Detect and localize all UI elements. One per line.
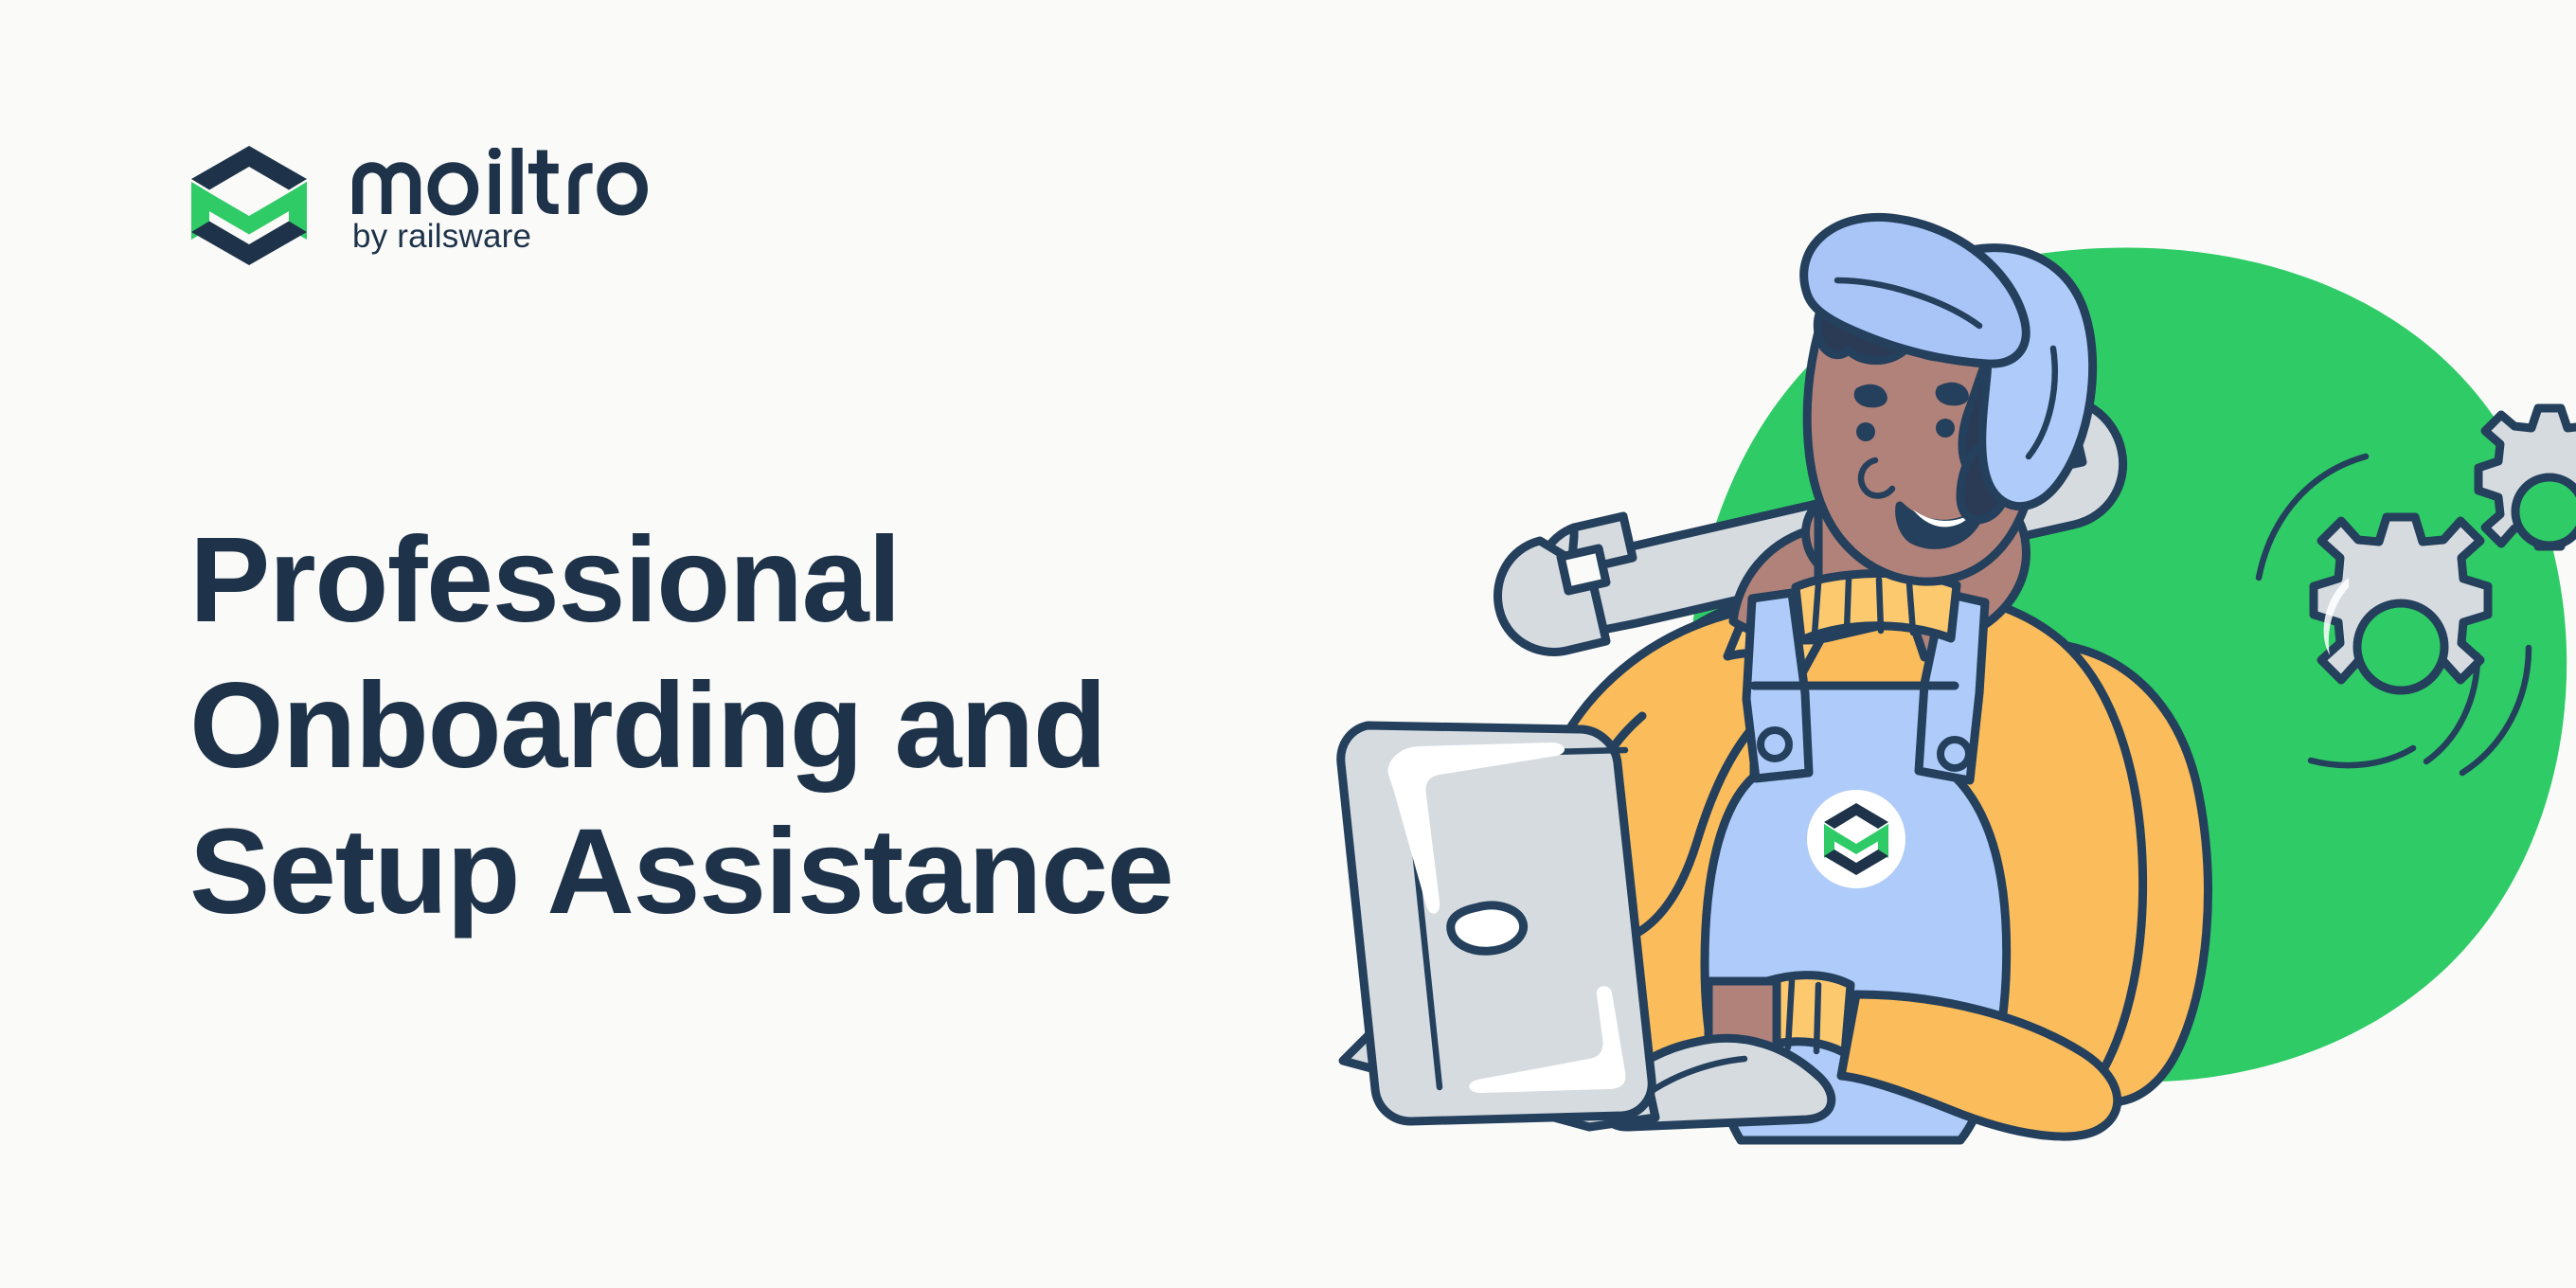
page-title: Professional Onboarding and Setup Assist…	[189, 508, 1250, 945]
gear-large	[2314, 517, 2488, 690]
mailtrap-badge-icon	[1807, 790, 1905, 888]
headline-line-3: Setup Assistance	[189, 799, 1250, 945]
logo-text-block: by railsware	[352, 142, 652, 253]
headline-line-2: Onboarding and	[189, 653, 1250, 799]
gear-small	[2478, 408, 2576, 546]
logo-tagline: by railsware	[352, 220, 652, 253]
promo-banner: by railsware Professional Onboarding and…	[0, 0, 2576, 1288]
laptop	[1341, 725, 1655, 1127]
technician-illustration-svg: .ln { fill:none; stroke:#24405C; stroke-…	[1326, 114, 2576, 1174]
mailtrap-wordmark	[352, 148, 652, 216]
technician-illustration: .ln { fill:none; stroke:#24405C; stroke-…	[1326, 114, 2576, 1174]
mailtrap-logo-lockup[interactable]: by railsware	[186, 142, 652, 269]
mailtrap-hexagon-m-logo-icon	[186, 142, 313, 269]
headline-line-1: Professional	[189, 508, 1250, 653]
